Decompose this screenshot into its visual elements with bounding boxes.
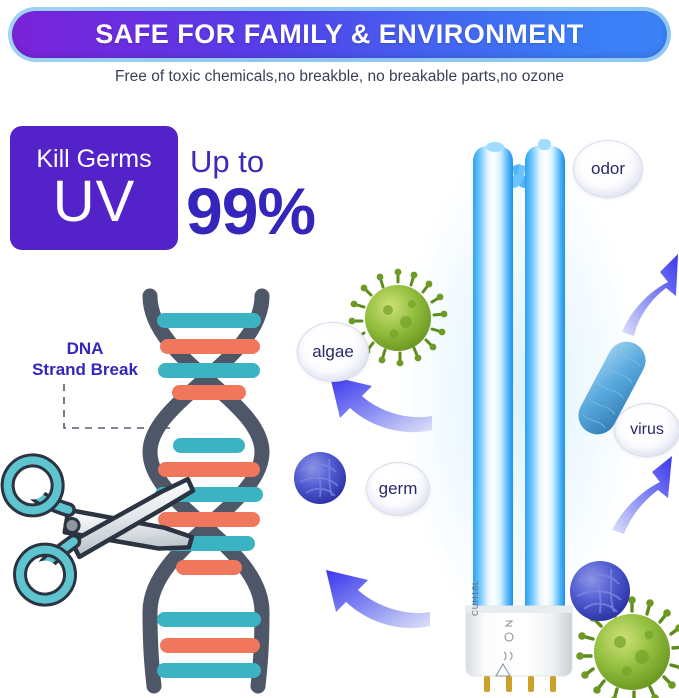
badge-uv-label: UV [53, 174, 136, 229]
arrow-up-right-bottom [612, 456, 672, 534]
arrow-up-left-algae [330, 376, 432, 432]
arrow-up-right-top [622, 254, 678, 336]
label-text-germ: germ [379, 479, 418, 499]
header-banner: SAFE FOR FAMILY & ENVIRONMENT [8, 7, 671, 62]
scissors-icon [5, 444, 203, 602]
header-banner-inner: SAFE FOR FAMILY & ENVIRONMENT [12, 11, 667, 58]
uv-lamp [466, 139, 572, 692]
header-subtitle: Free of toxic chemicals,no breakble, no … [0, 68, 679, 86]
dna-strand-break-caption: DNA Strand Break [10, 338, 160, 381]
purple-cluster-bot-icon [570, 561, 630, 621]
label-bubble-algae: algae [297, 322, 369, 382]
dna-caption-line2: Strand Break [10, 359, 160, 380]
lamp-base-model-text: CUH18L [470, 580, 480, 616]
kill-germs-badge: Kill Germs UV [10, 126, 178, 250]
label-text-algae: algae [312, 342, 354, 362]
dna-leader-line [58, 382, 176, 434]
purple-cluster-mid-icon [294, 452, 346, 504]
label-bubble-odor: odor [573, 140, 643, 198]
dna-caption-line1: DNA [10, 338, 160, 359]
arrow-up-left-bottom [326, 570, 430, 628]
label-bubble-germ: germ [366, 462, 430, 516]
label-bubble-virus: virus [614, 403, 679, 457]
infographic-canvas: SAFE FOR FAMILY & ENVIRONMENT Free of to… [0, 0, 679, 698]
dna-helix [150, 296, 263, 686]
label-text-virus: virus [630, 421, 664, 439]
banner-title: SAFE FOR FAMILY & ENVIRONMENT [95, 19, 584, 50]
claim-prefix: Up to [190, 146, 264, 177]
green-virus-bottom-icon [576, 596, 679, 698]
claim-percent: 99% [186, 178, 315, 244]
label-text-odor: odor [591, 159, 625, 179]
